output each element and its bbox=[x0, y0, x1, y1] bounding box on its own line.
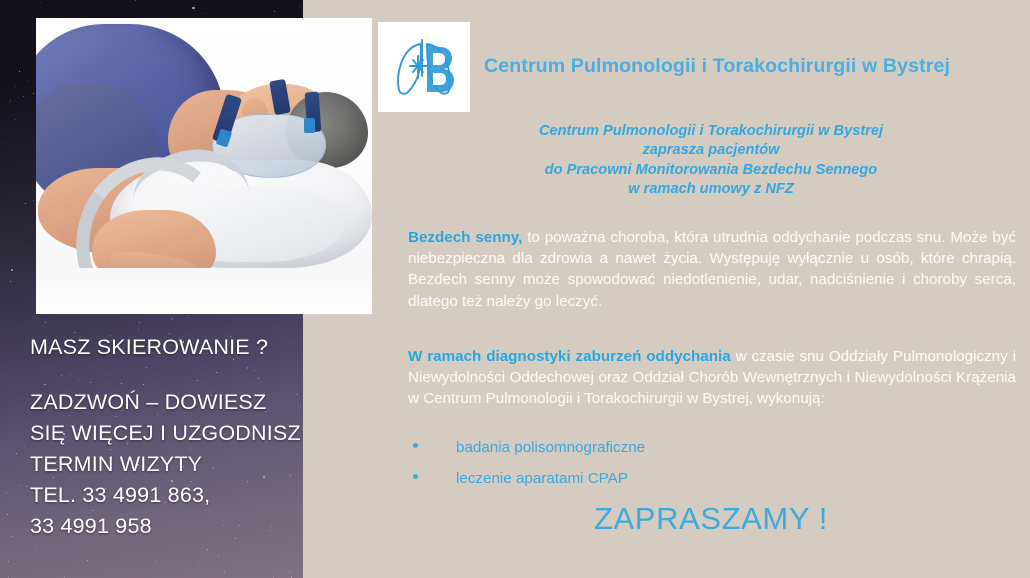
poster-slide: MASZ SKIEROWANIE ? ZADZWOŃ – DOWIESZ SIĘ… bbox=[0, 0, 1030, 578]
subtitle-line-4: w ramach umowy z NFZ bbox=[404, 180, 1018, 199]
closing-invitation: ZAPRASZAMY ! bbox=[404, 500, 1018, 538]
contact-call-to-action: MASZ SKIEROWANIE ? ZADZWOŃ – DOWIESZ SIĘ… bbox=[30, 332, 292, 542]
subtitle-line-3: do Pracowni Monitorowania Bezdechu Senne… bbox=[404, 161, 1018, 180]
list-item: leczenie aparatami CPAP bbox=[408, 469, 1016, 500]
subtitle-line-1: Centrum Pulmonologii i Torakochirurgii w… bbox=[404, 122, 1018, 141]
bullet-dot-icon bbox=[413, 474, 418, 479]
hospital-logo bbox=[378, 22, 470, 112]
paragraph-diagnostics: W ramach diagnostyki zaburzeń oddychania… bbox=[408, 346, 1016, 410]
cta-line-2: ZADZWOŃ – DOWIESZ bbox=[30, 387, 292, 418]
paragraph-2-highlight: W ramach diagnostyki zaburzeń oddychania bbox=[408, 348, 731, 365]
cta-phone-2: 33 4991 958 bbox=[30, 511, 292, 542]
photo-mask-clip-right bbox=[304, 118, 315, 133]
list-item-label: badania polisomnograficzne bbox=[456, 438, 645, 458]
cta-spacer bbox=[30, 363, 292, 387]
cta-line-3: SIĘ WIĘCEJ I UZGODNISZ bbox=[30, 418, 292, 449]
paragraph-1-highlight: Bezdech senny, bbox=[408, 229, 522, 246]
cta-phone-1: TEL. 33 4991 863, bbox=[30, 480, 292, 511]
cta-line-4: TERMIN WIZYTY bbox=[30, 449, 292, 480]
cta-line-question: MASZ SKIEROWANIE ? bbox=[30, 332, 292, 363]
services-list: badania polisomnograficzne leczenie apar… bbox=[408, 438, 1016, 500]
list-item-label: leczenie aparatami CPAP bbox=[456, 469, 628, 489]
cpap-sleep-photo bbox=[36, 18, 372, 314]
photo-bedsheet bbox=[36, 268, 372, 314]
photo-card bbox=[36, 18, 372, 314]
paragraph-sleep-apnea: Bezdech senny, to poważna choroba, która… bbox=[408, 227, 1016, 312]
bullet-dot-icon bbox=[413, 443, 418, 448]
lungs-b-icon bbox=[386, 30, 462, 104]
subtitle-line-2: zaprasza pacjentów bbox=[404, 141, 1018, 160]
page-title: Centrum Pulmonologii i Torakochirurgii w… bbox=[484, 54, 1026, 78]
list-item: badania polisomnograficzne bbox=[408, 438, 1016, 469]
invitation-subtitle: Centrum Pulmonologii i Torakochirurgii w… bbox=[404, 122, 1018, 200]
